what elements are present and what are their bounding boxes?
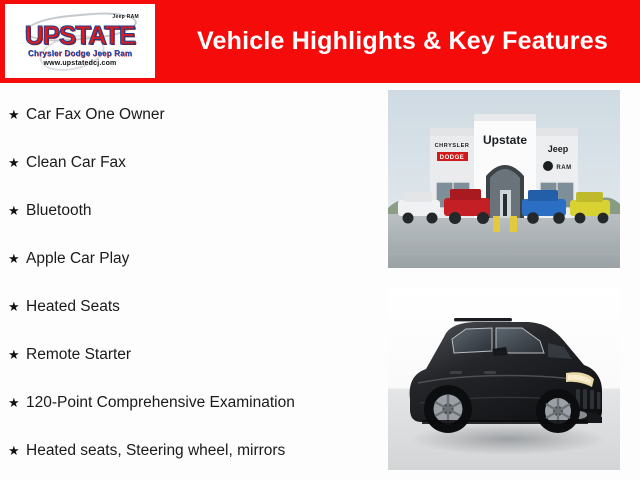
- feature-label: Car Fax One Owner: [26, 105, 165, 124]
- vehicle-photo[interactable]: [388, 287, 620, 470]
- list-item: ★ Apple Car Play: [8, 240, 375, 288]
- svg-text:CHRYSLER: CHRYSLER: [435, 143, 470, 149]
- list-item: ★ Bluetooth: [8, 192, 375, 240]
- svg-text:RAM: RAM: [556, 165, 571, 171]
- feature-list: ★ Car Fax One Owner ★ Clean Car Fax ★ Bl…: [0, 88, 375, 480]
- star-bullet-icon: ★: [8, 201, 26, 220]
- feature-label: Apple Car Play: [26, 249, 129, 268]
- feature-label: Heated Seats: [26, 297, 120, 316]
- logo-website-url: www.upstatedcj.com: [44, 60, 117, 67]
- star-bullet-icon: ★: [8, 393, 26, 412]
- feature-label: Heated seats, Steering wheel, mirrors: [26, 441, 285, 460]
- feature-label: Clean Car Fax: [26, 153, 126, 172]
- header-bar: Jeep RAM UPSTATE Chrysler Dodge Jeep Ram…: [0, 0, 640, 83]
- list-item: ★ Remote Starter: [8, 336, 375, 384]
- svg-text:Upstate: Upstate: [483, 133, 527, 147]
- dealership-logo[interactable]: Jeep RAM UPSTATE Chrysler Dodge Jeep Ram…: [5, 4, 155, 78]
- feature-label: Remote Starter: [26, 345, 131, 364]
- star-bullet-icon: ★: [8, 105, 26, 124]
- list-item: ★ Car Fax One Owner: [8, 96, 375, 144]
- logo-tagline: Chrysler Dodge Jeep Ram: [28, 49, 132, 58]
- dealership-photo[interactable]: Upstate CHRYSLER DODGE Jeep RAM: [388, 90, 620, 268]
- star-bullet-icon: ★: [8, 345, 26, 364]
- list-item: ★ Heated Seats: [8, 288, 375, 336]
- star-bullet-icon: ★: [8, 297, 26, 316]
- star-bullet-icon: ★: [8, 249, 26, 268]
- slide-page: Jeep RAM UPSTATE Chrysler Dodge Jeep Ram…: [0, 0, 640, 480]
- feature-label: Bluetooth: [26, 201, 92, 220]
- svg-text:Jeep: Jeep: [548, 144, 569, 154]
- feature-label: 120-Point Comprehensive Examination: [26, 393, 295, 412]
- logo-wordmark: UPSTATE: [25, 22, 135, 48]
- page-title: Vehicle Highlights & Key Features: [170, 0, 635, 83]
- logo-artwork: Jeep RAM UPSTATE Chrysler Dodge Jeep Ram…: [7, 6, 153, 76]
- svg-text:DODGE: DODGE: [440, 155, 465, 161]
- star-bullet-icon: ★: [8, 153, 26, 172]
- star-bullet-icon: ★: [8, 441, 26, 460]
- list-item: ★ Clean Car Fax: [8, 144, 375, 192]
- list-item: ★ Heated seats, Steering wheel, mirrors: [8, 432, 375, 480]
- list-item: ★ 120-Point Comprehensive Examination: [8, 384, 375, 432]
